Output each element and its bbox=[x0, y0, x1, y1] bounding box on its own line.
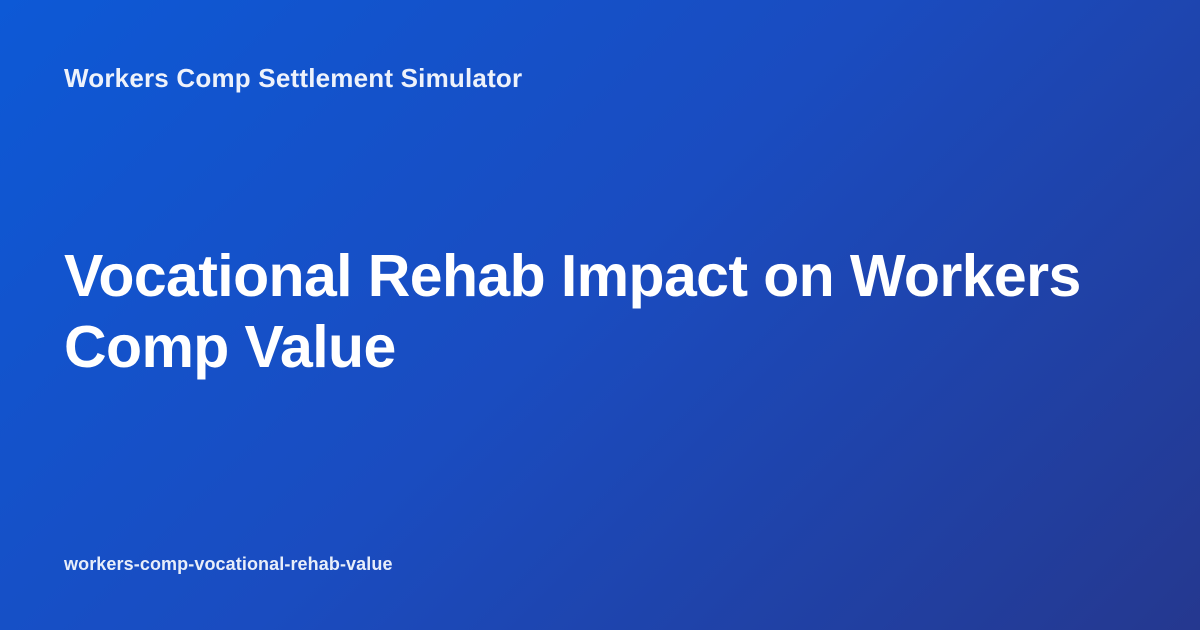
page-title: Vocational Rehab Impact on Workers Comp … bbox=[64, 241, 1099, 383]
footer: workers-comp-vocational-rehab-value bbox=[64, 552, 1136, 576]
og-preview-card: Workers Comp Settlement Simulator Vocati… bbox=[0, 0, 1200, 630]
headline-block: Vocational Rehab Impact on Workers Comp … bbox=[64, 72, 1136, 552]
article-slug: workers-comp-vocational-rehab-value bbox=[64, 552, 1136, 576]
